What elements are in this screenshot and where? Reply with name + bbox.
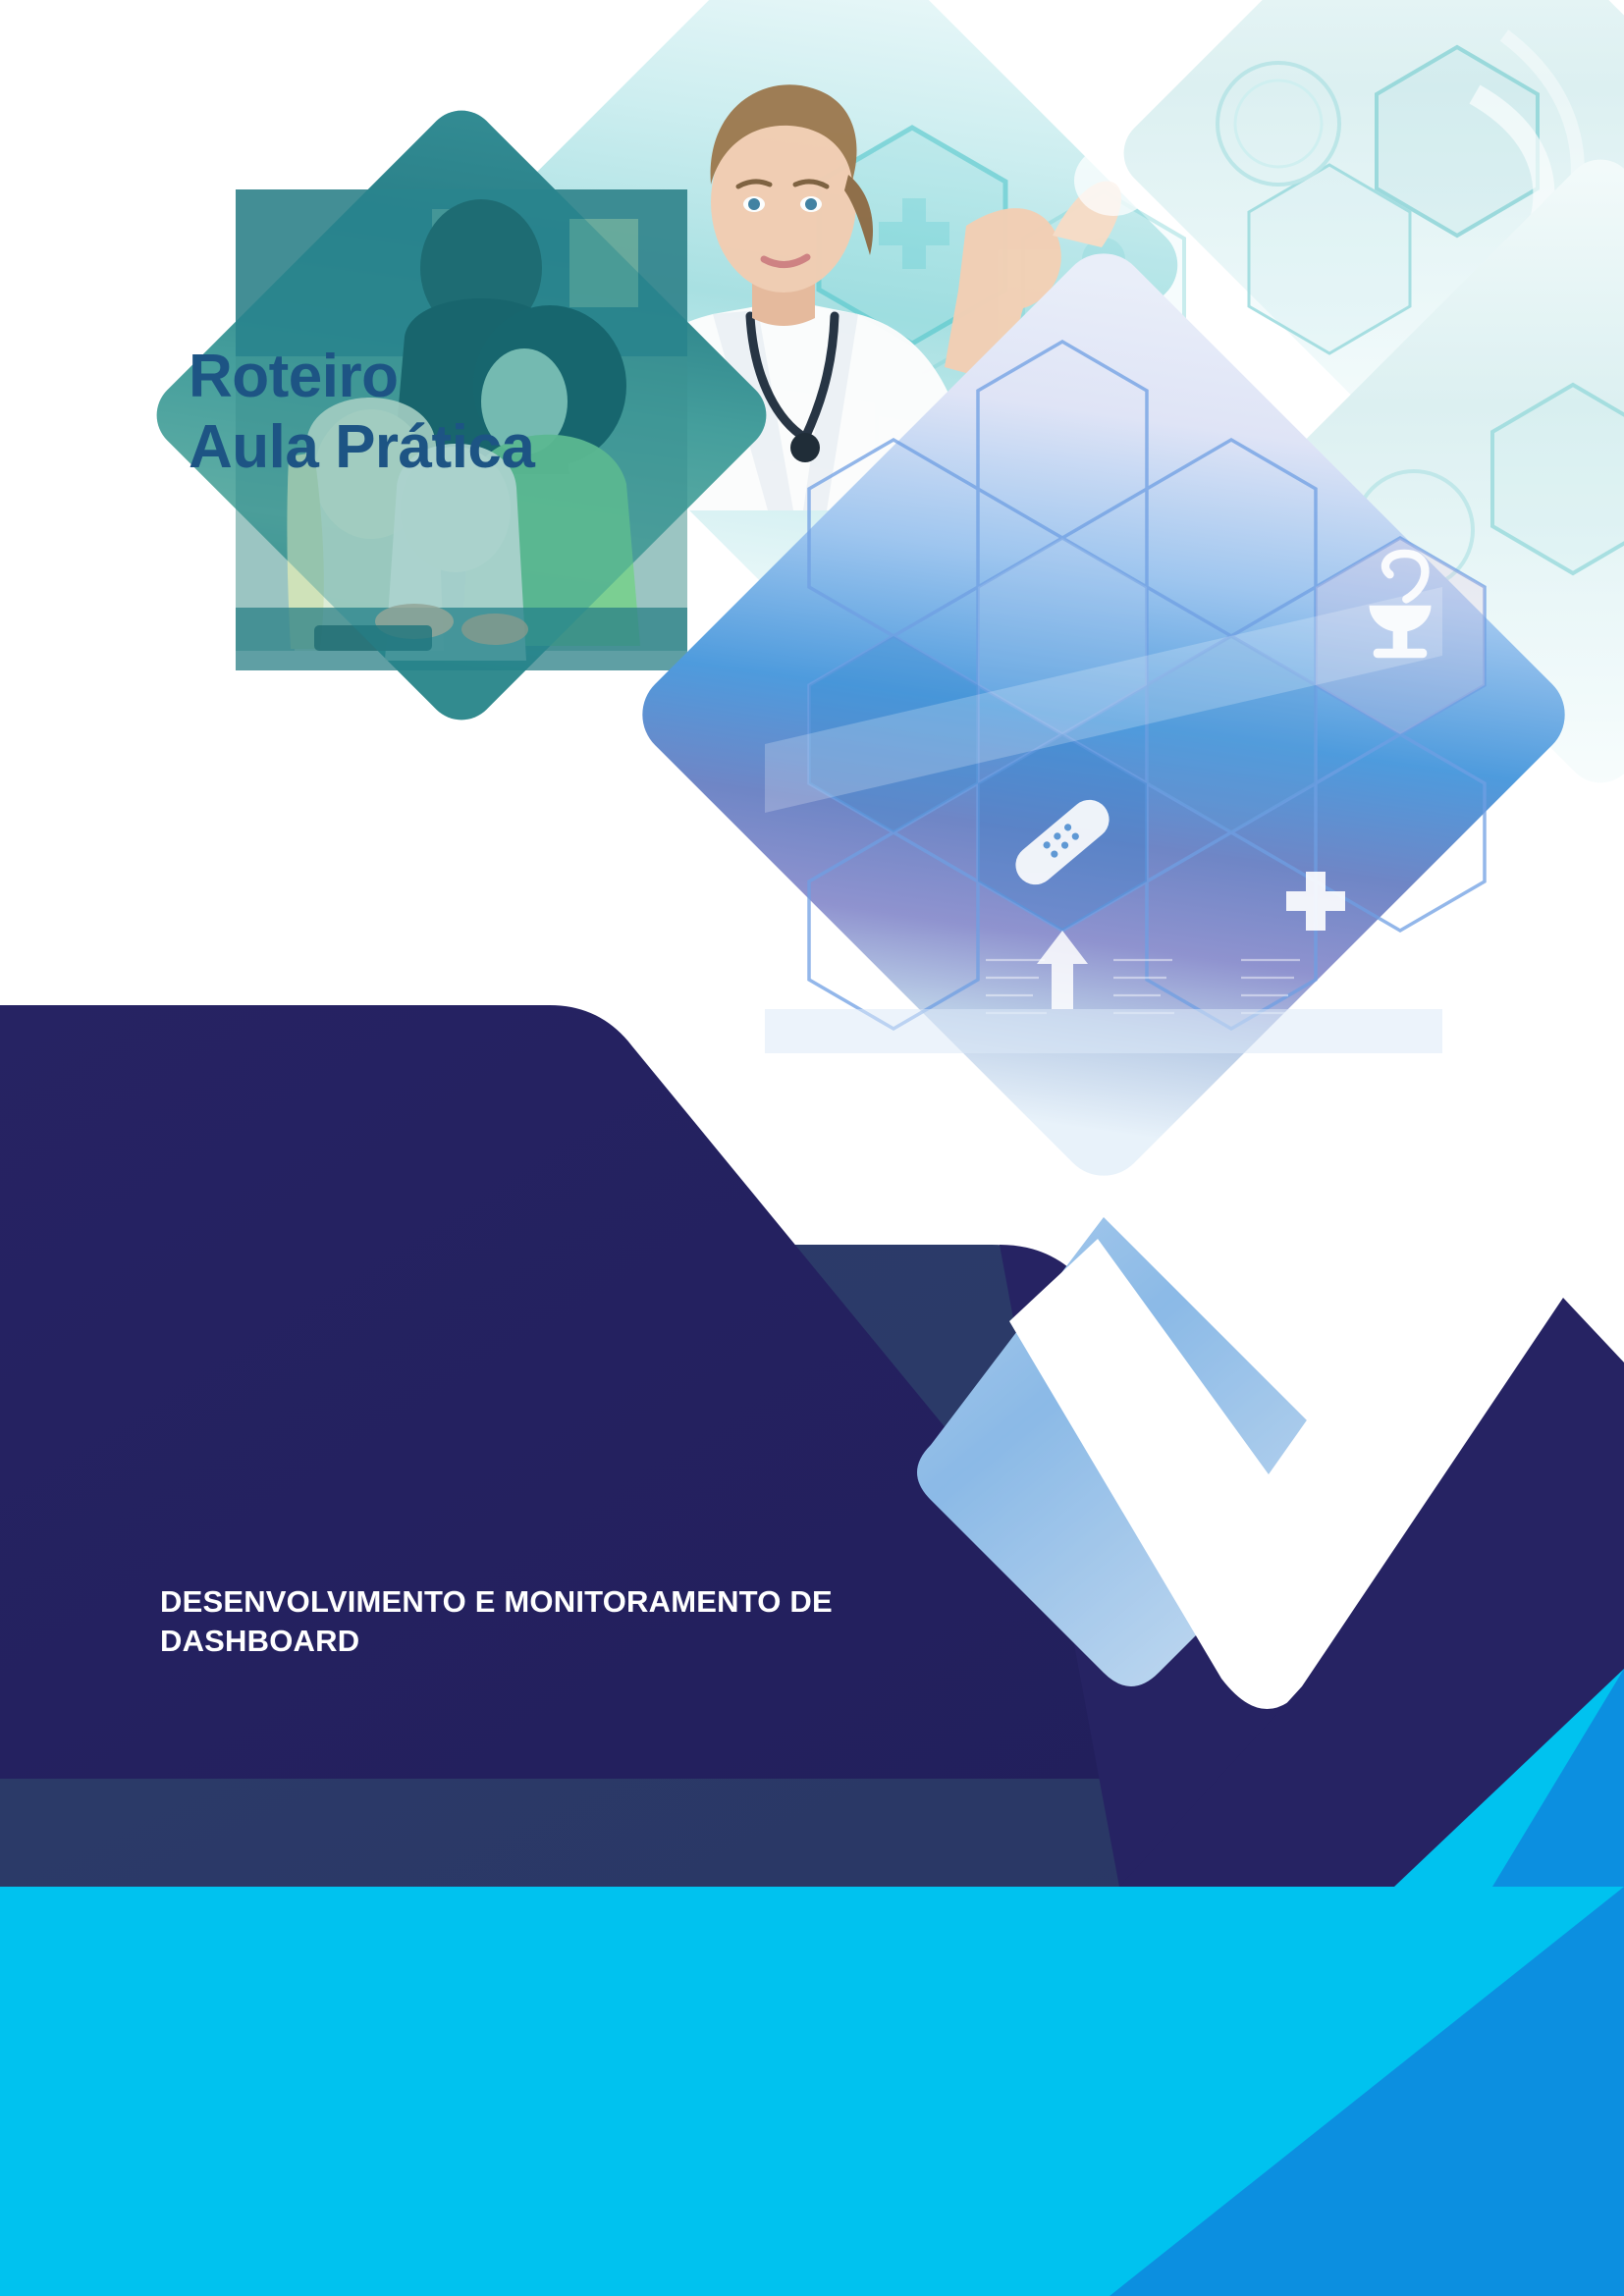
title-line-1: Roteiro — [189, 342, 534, 412]
subtitle-line-2: DASHBOARD — [160, 1622, 1299, 1661]
page-title: Roteiro Aula Prática — [189, 342, 534, 483]
page-subtitle: DESENVOLVIMENTO E MONITORAMENTO DE DASHB… — [160, 1582, 1299, 1662]
title-line-2: Aula Prática — [189, 412, 534, 483]
cover-page: Roteiro Aula Prática DESENVOLVIMENTO E M… — [0, 0, 1624, 2296]
subtitle-line-1: DESENVOLVIMENTO E MONITORAMENTO DE — [160, 1582, 1299, 1622]
